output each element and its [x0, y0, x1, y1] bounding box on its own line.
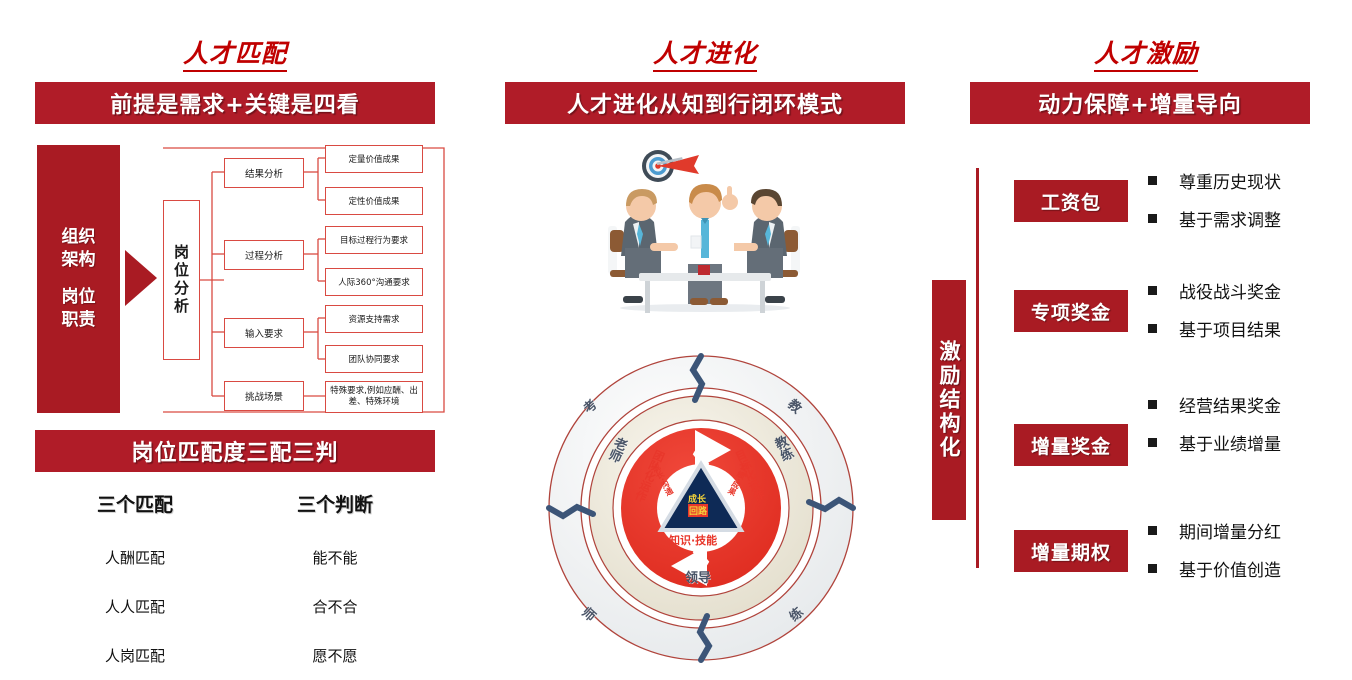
bullet-square-icon: [1148, 564, 1157, 573]
tree-leaf-node: 定性价值成果: [325, 187, 423, 215]
incentive-bullet-list: 尊重历史现状 基于需求调整: [1148, 168, 1348, 244]
tree-leaf-label: 目标过程行为要求: [340, 234, 408, 246]
table-row: 人岗匹配 愿不愿: [35, 631, 435, 680]
tree-leaf-label: 定性价值成果: [348, 195, 399, 207]
table-cell: 人酬匹配: [35, 533, 235, 582]
incentive-bullet-list: 经营结果奖金 基于业绩增量: [1148, 392, 1348, 468]
banner-left-primary: 前提是需求+关键是四看: [35, 82, 435, 124]
table-cell: 人人匹配: [35, 582, 235, 631]
tree-root-label: 岗位分析: [171, 244, 192, 316]
list-item: 战役战斗奖金: [1148, 278, 1348, 303]
list-item: 经营结果奖金: [1148, 392, 1348, 417]
banner-left-secondary: 岗位匹配度三配三判: [35, 430, 435, 472]
bullet-text: 战役战斗奖金: [1179, 278, 1281, 303]
table-header-cell: 三个判断: [235, 482, 435, 533]
banner-right: 动力保障+增量导向: [970, 82, 1310, 124]
table-row: 人人匹配 合不合: [35, 582, 435, 631]
person-left: [608, 189, 678, 303]
triangle-label-bottom: 知识·技能: [669, 532, 717, 548]
bullet-square-icon: [1148, 286, 1157, 295]
banner-left-primary-text: 前提是需求+关键是四看: [110, 87, 359, 119]
tree-branch-node: 挑战场景: [224, 381, 304, 411]
tree-leaf-label: 团队协同要求: [348, 353, 399, 365]
incentive-vertical-label: 激励结构化: [932, 280, 966, 520]
tree-leaf-label: 特殊要求,例如应酬、出差、特殊环境: [326, 386, 422, 407]
bullet-text: 基于价值创造: [1179, 556, 1281, 581]
tree-branch-node: 过程分析: [224, 240, 304, 270]
banner-right-text: 动力保障+增量导向: [1038, 87, 1241, 119]
incentive-item-box: 工资包: [1014, 180, 1128, 222]
talent-matching-panel: 人才匹配 前提是需求+关键是四看 组织 架构 岗位 职责: [0, 0, 470, 670]
bullet-text: 经营结果奖金: [1179, 392, 1281, 417]
bullet-text: 基于需求调整: [1179, 206, 1281, 231]
tree-root-node: 岗位分析: [163, 200, 200, 360]
incentive-bullet-list: 期间增量分红 基于价值创造: [1148, 518, 1348, 594]
table-header-row: 三个匹配 三个判断: [35, 482, 435, 533]
incentive-item-name: 工资包: [1041, 188, 1101, 215]
tree-branch-label: 结果分析: [245, 166, 283, 180]
meeting-illustration: [595, 148, 815, 338]
list-item: 基于价值创造: [1148, 556, 1348, 581]
table-header-cell: 三个匹配: [35, 482, 235, 533]
incentive-vertical-text: 激励结构化: [934, 340, 964, 460]
section-title-left: 人才匹配: [0, 34, 470, 70]
table-row: 人酬匹配 能不能: [35, 533, 435, 582]
bullet-text: 期间增量分红: [1179, 518, 1281, 543]
table-cell: 合不合: [235, 582, 435, 631]
bullet-text: 基于项目结果: [1179, 316, 1281, 341]
incentive-spine-line: [976, 168, 979, 568]
bullet-square-icon: [1148, 214, 1157, 223]
bullet-square-icon: [1148, 176, 1157, 185]
bullet-square-icon: [1148, 438, 1157, 447]
incentive-item-name: 增量期权: [1031, 538, 1111, 565]
tree-branch-node: 输入要求: [224, 318, 304, 348]
org-line-3: 岗位: [62, 286, 96, 309]
tree-branch-label: 过程分析: [245, 248, 283, 262]
tree-leaf-node: 人际360°沟通要求: [325, 268, 423, 296]
section-title-mid: 人才进化: [470, 34, 940, 70]
banner-left-secondary-text: 岗位匹配度三配三判: [131, 435, 338, 467]
org-line-1: 组织: [62, 226, 96, 249]
tree-leaf-label: 定量价值成果: [348, 153, 399, 165]
tree-leaf-label: 资源支持需求: [348, 313, 399, 325]
tree-leaf-node: 资源支持需求: [325, 305, 423, 333]
growth-cycle-diagram: 考 教 练 师 老师 教练 领导 团队化运作 目标化运作 成长·沟通 业绩·成果…: [545, 352, 857, 664]
bullet-square-icon: [1148, 526, 1157, 535]
bullet-square-icon: [1148, 400, 1157, 409]
org-structure-block: 组织 架构 岗位 职责: [37, 145, 120, 413]
table-cell: 能不能: [235, 533, 435, 582]
banner-mid-text: 人才进化从知到行闭环模式: [567, 87, 843, 119]
arrow-right-icon: [125, 250, 157, 306]
person-center: [684, 184, 738, 305]
bullet-text: 基于业绩增量: [1179, 430, 1281, 455]
tree-branch-node: 结果分析: [224, 158, 304, 188]
triangle-center-line2: 回路: [688, 504, 708, 517]
section-title-right: 人才激励: [940, 34, 1352, 70]
list-item: 基于项目结果: [1148, 316, 1348, 341]
list-item: 基于需求调整: [1148, 206, 1348, 231]
bullet-text: 尊重历史现状: [1179, 168, 1281, 193]
section-title-left-text: 人才匹配: [183, 39, 287, 72]
tree-branch-label: 挑战场景: [245, 389, 283, 403]
list-item: 基于业绩增量: [1148, 430, 1348, 455]
tree-leaf-node: 特殊要求,例如应酬、出差、特殊环境: [325, 381, 423, 413]
tree-leaf-node: 定量价值成果: [325, 145, 423, 173]
section-title-mid-text: 人才进化: [653, 39, 757, 72]
banner-mid: 人才进化从知到行闭环模式: [505, 82, 905, 124]
target-icon: [642, 150, 699, 182]
tree-leaf-label: 人际360°沟通要求: [338, 276, 409, 288]
table-cell: 人岗匹配: [35, 631, 235, 680]
incentive-item-box: 增量期权: [1014, 530, 1128, 572]
tree-leaf-node: 团队协同要求: [325, 345, 423, 373]
inner-ring-label: 领导: [685, 567, 711, 586]
org-line-4: 职责: [62, 309, 96, 332]
incentive-item-box: 专项奖金: [1014, 290, 1128, 332]
table-cell: 愿不愿: [235, 631, 435, 680]
match-judgement-table: 三个匹配 三个判断 人酬匹配 能不能 人人匹配 合不合 人岗匹配 愿不愿: [35, 482, 435, 680]
bullet-square-icon: [1148, 324, 1157, 333]
section-title-right-text: 人才激励: [1094, 39, 1198, 72]
tree-leaf-node: 目标过程行为要求: [325, 226, 423, 254]
list-item: 期间增量分红: [1148, 518, 1348, 543]
incentive-item-name: 增量奖金: [1031, 432, 1111, 459]
list-item: 尊重历史现状: [1148, 168, 1348, 193]
incentive-item-box: 增量奖金: [1014, 424, 1128, 466]
incentive-item-name: 专项奖金: [1031, 298, 1111, 325]
incentive-bullet-list: 战役战斗奖金 基于项目结果: [1148, 278, 1348, 354]
tree-branch-label: 输入要求: [245, 326, 283, 340]
org-line-2: 架构: [62, 249, 96, 272]
